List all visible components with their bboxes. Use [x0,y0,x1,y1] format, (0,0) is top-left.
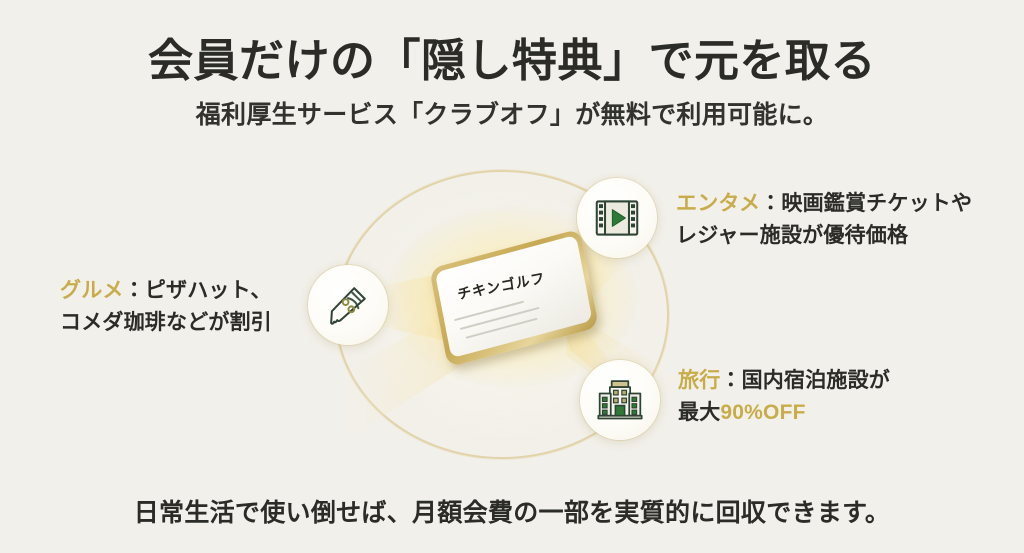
card-label: チキンゴルフ [456,267,546,304]
benefit-icon-entertainment [577,178,657,258]
benefit-icon-gourmet [308,265,388,345]
diagram-stage: チキンゴルフ [0,150,1024,470]
caption-separator: ： [720,369,741,392]
card-detail-line [454,301,524,322]
footer-note: 日常生活で使い倒せば、月額会費の一部を実質的に回収できます。 [0,493,1024,529]
benefit-icon-travel [580,360,660,440]
film-strip-play-icon [594,197,640,239]
page-title: 会員だけの「隠し特典」で元を取る [0,0,1024,86]
membership-card: チキンゴルフ [422,232,602,362]
caption-line-1: エンタメ：映画鑑賞チケットや [676,188,972,220]
caption-text: 映画鑑賞チケットや [781,192,972,215]
caption-line-2: コメダ珈琲などが割引 [60,307,272,339]
caption-text: 国内宿泊施設が [742,369,890,392]
caption-line-1: グルメ：ピザハット、 [60,275,272,307]
caption-text: 最大 [678,401,720,424]
hotel-building-icon [596,378,644,422]
caption-accent: グルメ [60,279,124,302]
caption-line-2: レジャー施設が優待価格 [676,220,972,252]
caption-accent: エンタメ [676,192,760,215]
benefit-caption-entertainment: エンタメ：映画鑑賞チケットや レジャー施設が優待価格 [676,188,972,252]
caption-separator: ： [124,279,145,302]
benefit-caption-travel: 旅行：国内宿泊施設が 最大90%OFF [678,365,890,429]
caption-accent-discount: 90%OFF [720,401,805,424]
caption-text: ピザハット、 [145,279,272,302]
benefit-caption-gourmet: グルメ：ピザハット、 コメダ珈琲などが割引 [60,275,272,339]
caption-separator: ： [760,192,781,215]
slide-root: 会員だけの「隠し特典」で元を取る 福利厚生サービス「クラブオフ」が無料で利用可能… [0,0,1024,553]
heading-block: 会員だけの「隠し特典」で元を取る 福利厚生サービス「クラブオフ」が無料で利用可能… [0,0,1024,130]
card-detail-line [466,318,538,339]
page-subtitle: 福利厚生サービス「クラブオフ」が無料で利用可能に。 [0,86,1024,130]
caption-accent: 旅行 [678,369,720,392]
caption-line-2: 最大90%OFF [678,397,890,429]
caption-line-1: 旅行：国内宿泊施設が [678,365,890,397]
pizza-slice-icon [325,282,371,328]
